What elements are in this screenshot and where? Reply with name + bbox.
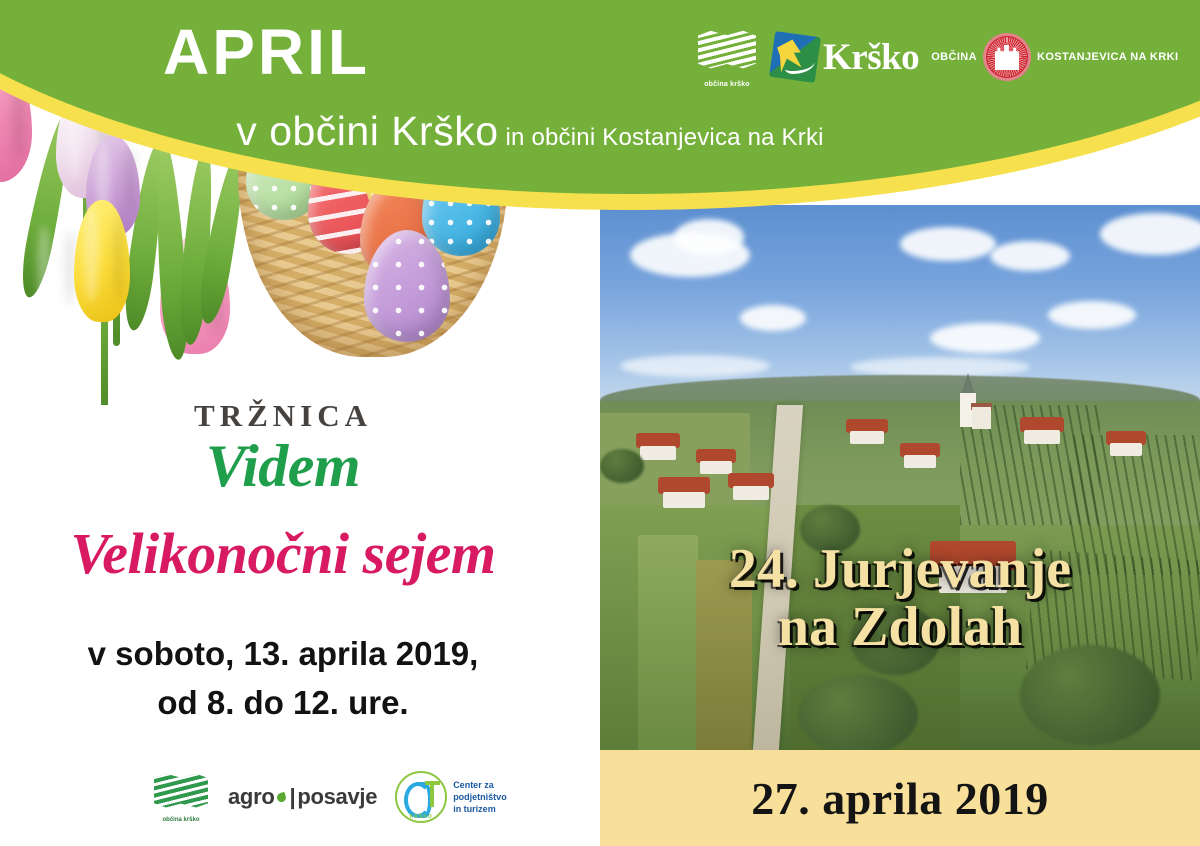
cloud <box>990 241 1070 271</box>
swoosh-icon <box>785 56 816 74</box>
event-date-line: v soboto, 13. aprila 2019, <box>0 630 566 679</box>
header-logo-strip: občina krško Krško OBČINA KOSTANJEVICA N… <box>694 24 1178 90</box>
header-subtitle: v občini Krškoin občini Kostanjevica na … <box>0 108 1060 155</box>
house-wall <box>1110 443 1142 456</box>
house-wall <box>663 492 705 508</box>
agro-word-right: posavje <box>297 784 377 810</box>
krsko-wordmark: Krško <box>823 39 919 76</box>
house-large <box>930 541 1016 591</box>
tree-clump <box>600 449 644 483</box>
church-spire <box>961 373 975 395</box>
house-wall <box>1024 430 1059 444</box>
house-wall <box>904 455 936 468</box>
cloud <box>930 323 1040 353</box>
tulip-bud <box>28 220 80 324</box>
house <box>728 473 774 499</box>
house-wall <box>733 486 770 500</box>
krsko-brand-logo[interactable]: Krško <box>772 34 919 80</box>
leaf-icon <box>276 791 288 803</box>
obcina-krsko-caption: občina krško <box>694 81 760 88</box>
jurjevanje-date: 27. aprila 2019 <box>751 772 1049 825</box>
cpt-line-3: in turizem <box>453 803 507 815</box>
flag-lines-icon <box>154 773 208 809</box>
obcina-krsko-logo-icon[interactable]: občina krško <box>694 26 760 88</box>
agro-separator: | <box>289 784 295 810</box>
kostanjevica-logo[interactable]: OBČINA KOSTANJEVICA NA KRKI <box>931 33 1178 81</box>
house-wall <box>700 461 732 474</box>
house <box>900 443 940 467</box>
subtitle-main: v občini Krško <box>236 108 498 154</box>
poster-root: APRIL v občini Krškoin občini Kostanjevi… <box>0 0 1200 846</box>
footer-obcina-krsko-caption: občina krško <box>152 817 210 823</box>
field <box>638 535 698 750</box>
subtitle-secondary: in občini Kostanjevica na Krki <box>506 124 824 151</box>
cloud <box>1048 301 1136 329</box>
market-kicker: TRŽNICA <box>0 398 566 434</box>
cpt-monogram-icon: KRŠKO <box>395 771 447 823</box>
event-datetime: v soboto, 13. aprila 2019, od 8. do 12. … <box>0 630 566 728</box>
agro-word-left: agro <box>228 784 274 810</box>
church-nave <box>972 407 991 429</box>
house <box>1106 431 1146 455</box>
market-name: Videm <box>0 432 566 501</box>
cloud <box>620 355 770 377</box>
agro-posavje-logo[interactable]: agro | posavje <box>228 784 377 810</box>
house <box>658 477 710 507</box>
kostanjevica-name: KOSTANJEVICA NA KRKI <box>1037 51 1178 63</box>
tree-clump <box>798 675 918 750</box>
flag-lines-icon <box>698 30 756 70</box>
letter-t-stem-icon <box>430 781 434 807</box>
house <box>1020 417 1064 443</box>
tree-clump <box>850 605 940 675</box>
village-church <box>955 373 989 435</box>
cpt-logo[interactable]: KRŠKO Center za podjetništvo in turizem <box>395 771 507 823</box>
cloud <box>1100 213 1200 255</box>
event-title: Velikonočni sejem <box>0 520 566 587</box>
jurjevanje-date-bar: 27. aprila 2019 <box>600 750 1200 846</box>
house <box>846 419 888 443</box>
field <box>696 560 752 750</box>
tulip-bud <box>74 200 130 322</box>
page-title-month: APRIL <box>163 20 370 84</box>
tree-clump <box>1020 645 1160 745</box>
footer-logo-strip: občina krško agro | posavje KRŠKO Center… <box>152 768 507 826</box>
cloud <box>900 227 996 261</box>
kostanjevica-prefix: OBČINA <box>931 51 977 63</box>
house-wall <box>939 566 1008 593</box>
cloud <box>850 357 1030 377</box>
house <box>636 433 680 459</box>
house-wall <box>640 446 675 460</box>
castle-icon <box>995 44 1019 70</box>
tree-clump <box>800 505 860 553</box>
event-time-line: od 8. do 12. ure. <box>0 679 566 728</box>
village-aerial-photo <box>600 205 1200 750</box>
house-wall <box>850 431 884 444</box>
house <box>696 449 736 473</box>
cpt-line-2: podjetništvo <box>453 791 507 803</box>
cpt-line-1: Center za <box>453 779 507 791</box>
kostanjevica-seal-icon <box>983 33 1031 81</box>
krsko-diamond-bird-icon <box>769 31 821 83</box>
cpt-fullname: Center za podjetništvo in turizem <box>453 779 507 815</box>
cloud <box>740 305 806 331</box>
footer-obcina-krsko-logo-icon[interactable]: občina krško <box>152 771 210 823</box>
cloud <box>674 219 744 255</box>
cpt-mark-caption: KRŠKO <box>397 814 445 820</box>
